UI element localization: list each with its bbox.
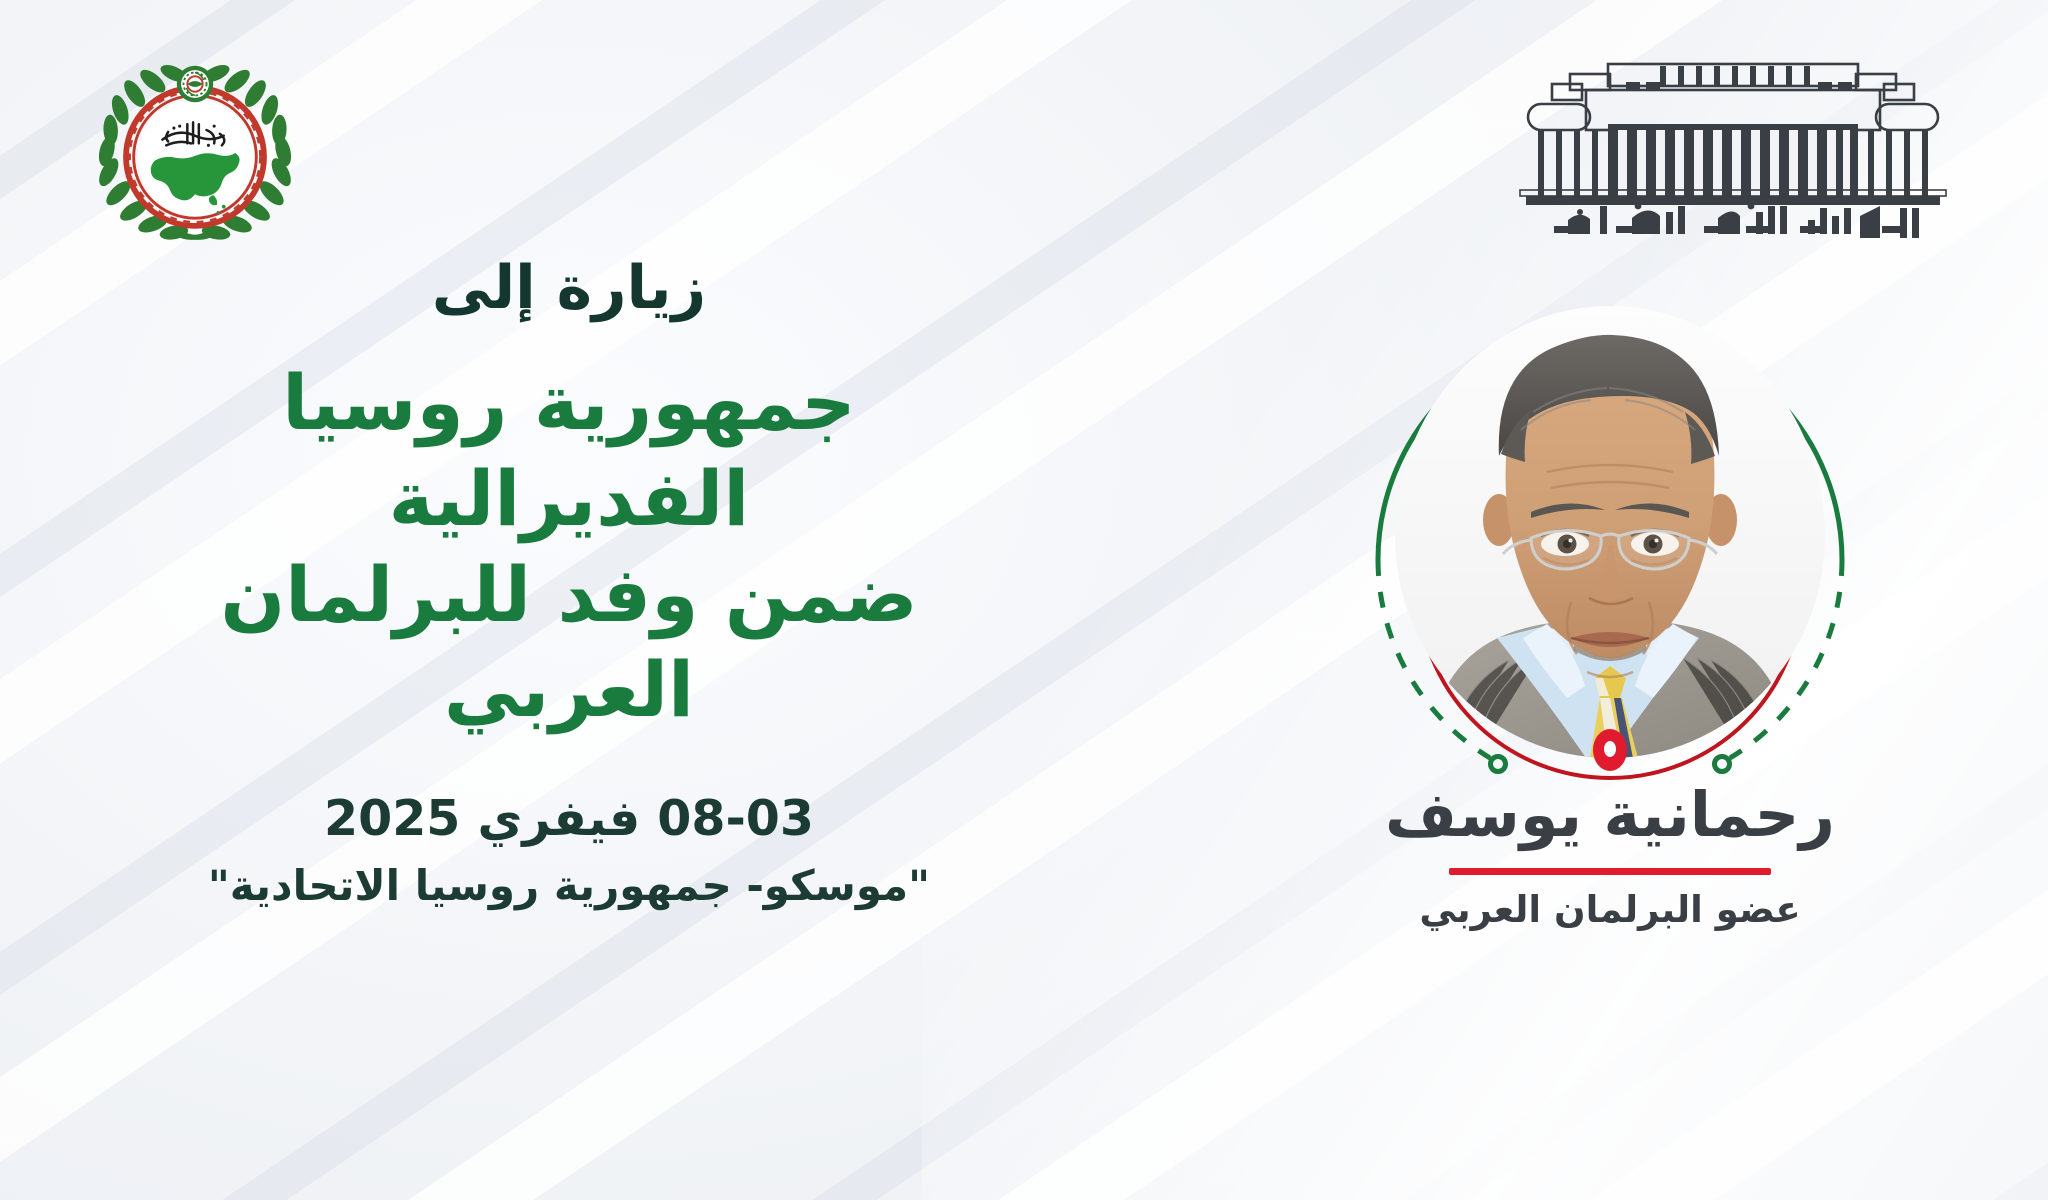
page-title: جمهورية روسيا الفديرالية ضمن وفد للبرلما… (90, 355, 1048, 738)
event-date: 08-03 فيفري 2025 (90, 790, 1048, 847)
kicker-visit-to: زيارة إلى (90, 255, 1048, 321)
main-text-block: زيارة إلى جمهورية روسيا الفديرالية ضمن و… (90, 255, 1048, 910)
apn-parliament-building-logo (1508, 30, 1958, 240)
person-name: رحمانية يوسف (1290, 778, 1930, 851)
avatar (1395, 306, 1825, 758)
name-underline (1449, 868, 1771, 875)
person-card: رحمانية يوسف عضو البرلمان العربي (1290, 268, 1930, 1168)
location-pin-icon (1583, 723, 1637, 777)
portrait-photo-frame (1395, 306, 1825, 758)
headline-line-2: ضمن وفد للبرلمان العربي (90, 547, 1048, 739)
person-role: عضو البرلمان العربي (1290, 888, 1930, 931)
arab-parliament-emblem-icon (80, 38, 310, 268)
poster-canvas: زيارة إلى جمهورية روسيا الفديرالية ضمن و… (0, 0, 2048, 1200)
headline-line-1: جمهورية روسيا الفديرالية (282, 358, 856, 543)
event-location: "موسكو- جمهورية روسيا الاتحادية" (90, 861, 1048, 910)
